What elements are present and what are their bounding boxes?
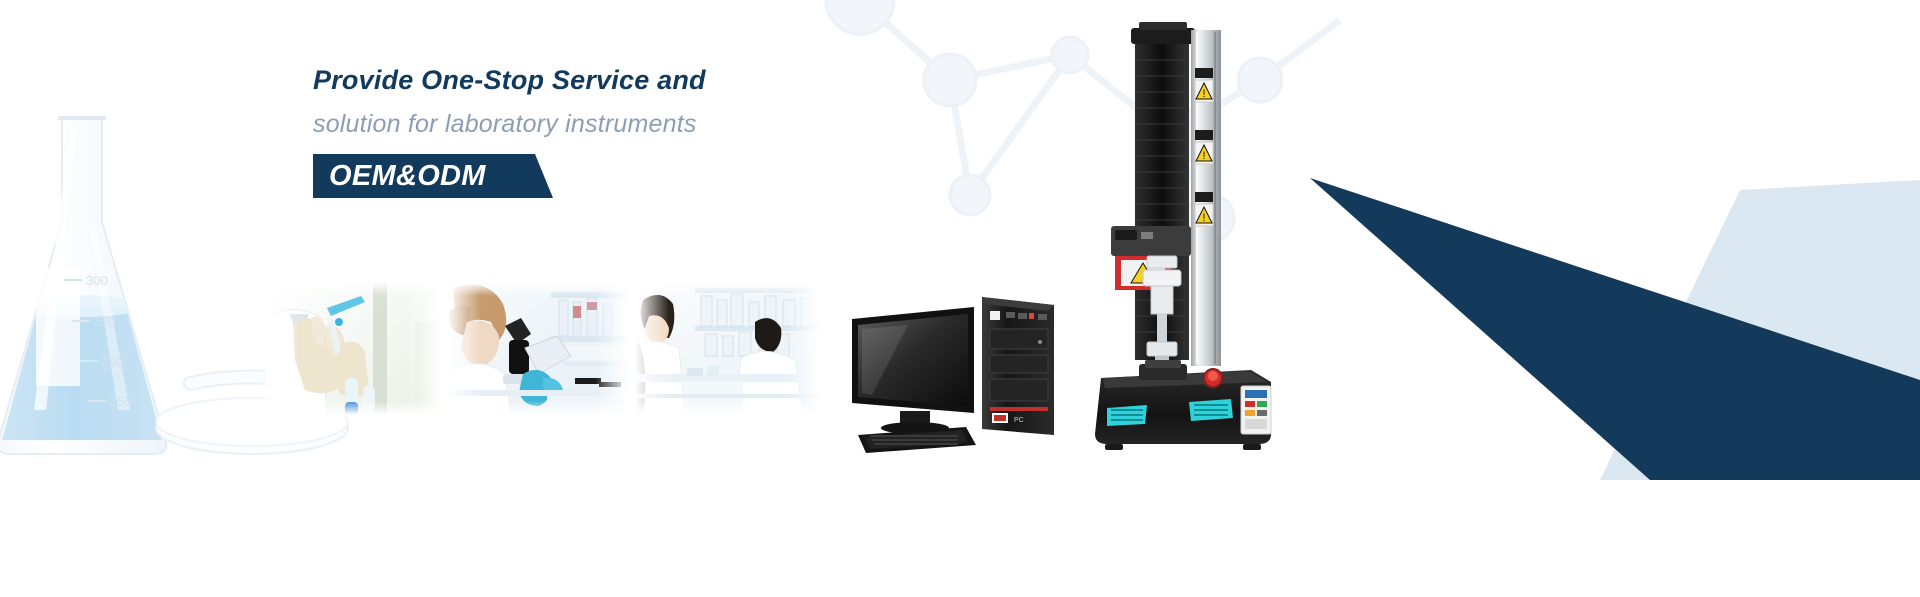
headline-line-2: solution for laboratory instruments: [313, 102, 953, 146]
photo-lab-bench: [635, 282, 821, 415]
svg-text:!: !: [1202, 212, 1205, 224]
svg-text:300: 300: [86, 273, 108, 288]
desktop-computer: PC: [848, 285, 1078, 455]
photo-microscope: [447, 282, 629, 415]
svg-text:!: !: [1202, 88, 1205, 100]
monitor: [852, 307, 974, 434]
svg-text:200: 200: [102, 354, 124, 369]
tower-brand-text: PC: [1014, 417, 1024, 424]
svg-text:250: 250: [94, 314, 116, 329]
photo-pipetting: [265, 282, 441, 415]
headline-block: Provide One-Stop Service and solution fo…: [313, 58, 953, 198]
tower: PC: [982, 297, 1054, 435]
keyboard: [858, 427, 976, 453]
universal-testing-machine: ! ! ! !: [1085, 20, 1300, 460]
base-unit: [1095, 360, 1271, 450]
headline-line-1: Provide One-Stop Service and: [313, 58, 953, 102]
svg-text:!: !: [1202, 150, 1205, 162]
banner-stage: 300 250 200 150 Provide One-Stop Service…: [0, 0, 1920, 597]
oem-odm-badge: OEM&ODM: [313, 154, 553, 198]
oem-odm-badge-label: OEM&ODM: [329, 154, 486, 198]
svg-text:150: 150: [110, 394, 132, 409]
photo-strip: [265, 282, 821, 415]
